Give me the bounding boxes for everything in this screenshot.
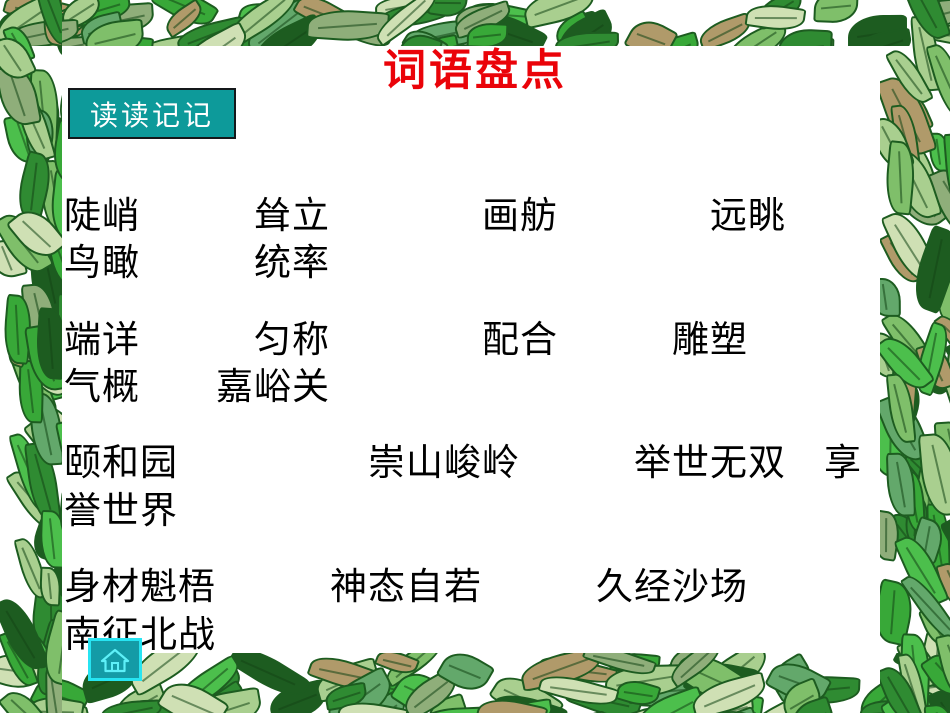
leaf-shape: [926, 684, 950, 713]
leaf-shape: [9, 623, 54, 676]
leaf-shape: [4, 320, 37, 368]
leaf-shape: [889, 323, 950, 402]
slide-canvas: 词语盘点 读读记记 陡峭 耸立 画舫 远眺 鸟瞰 统率 端详 匀称 配合 雕塑 …: [0, 0, 950, 713]
home-button[interactable]: [88, 638, 142, 681]
leaf-shape: [24, 441, 62, 524]
leaf-shape: [0, 236, 28, 282]
leaf-shape: [917, 603, 950, 651]
leaf-shape: [915, 340, 950, 394]
leaf-shape: [397, 667, 463, 713]
leaf-shape: [454, 2, 498, 30]
leaf-shape: [2, 0, 85, 32]
leaf-shape: [23, 409, 62, 470]
leaf-shape: [592, 706, 646, 713]
leaf-shape: [412, 706, 488, 713]
leaf-shape: [24, 322, 62, 394]
leaf-shape: [291, 0, 348, 36]
leaf-shape: [20, 365, 47, 419]
leaf-shape: [537, 653, 618, 689]
leaf-shape: [897, 651, 929, 713]
leaf-shape: [734, 694, 812, 713]
leaf-shape: [25, 9, 87, 43]
leaf-shape: [160, 0, 207, 39]
leaf-shape: [900, 569, 950, 646]
leaf-shape: [943, 703, 950, 713]
leaf-shape: [943, 332, 950, 391]
page-title: 词语盘点: [58, 50, 892, 93]
leaf-shape: [906, 680, 950, 713]
leaf-shape: [714, 702, 783, 713]
leaf-shape: [744, 1, 806, 34]
leaf-shape: [920, 646, 950, 704]
leaf-shape: [306, 7, 390, 44]
leaf-shape: [27, 69, 61, 151]
leaf-shape: [375, 0, 442, 18]
leaf-shape: [683, 656, 760, 702]
leaf-shape: [786, 695, 839, 713]
leaf-shape: [1, 55, 52, 129]
leaf-shape: [179, 687, 265, 713]
word-group-1: 陡峭 耸立 画舫 远眺 鸟瞰 统率: [64, 192, 892, 287]
leaf-shape: [587, 707, 657, 713]
leaf-shape: [925, 40, 950, 122]
leaf-shape: [880, 685, 950, 713]
leaf-shape: [672, 653, 755, 713]
leaf-shape: [910, 15, 941, 93]
leaf-shape: [165, 654, 246, 713]
leaf-shape: [8, 430, 53, 516]
leaf-shape: [21, 283, 58, 348]
leaf-shape: [55, 684, 62, 713]
leaf-shape: [0, 206, 54, 280]
leaf-shape: [940, 332, 950, 396]
leaf-shape: [935, 631, 950, 706]
leaf-shape: [18, 360, 44, 423]
leaf-shape: [899, 633, 932, 710]
leaf-shape: [156, 672, 231, 713]
leaf-shape: [890, 103, 922, 172]
leaf-band-left: [0, 0, 62, 713]
leaf-shape: [484, 698, 554, 713]
leaf-shape: [22, 107, 58, 161]
leaf-shape: [236, 0, 300, 39]
leaf-shape: [12, 150, 57, 222]
leaf-shape: [123, 692, 171, 713]
leaf-shape: [27, 95, 62, 155]
leaf-shape: [491, 688, 569, 713]
word-group-2: 端详 匀称 配合 雕塑 气概 嘉峪关: [64, 316, 892, 411]
leaf-shape: [28, 669, 92, 713]
leaf-shape: [389, 665, 445, 713]
leaf-shape: [925, 455, 950, 508]
leaf-shape: [423, 693, 473, 713]
leaf-shape: [101, 699, 163, 713]
leaf-shape: [940, 697, 950, 713]
leaf-shape: [665, 653, 726, 688]
leaf-shape: [0, 30, 37, 85]
leaf-shape: [521, 0, 598, 28]
leaf-shape: [853, 677, 906, 713]
leaf-band-bottom: [0, 653, 950, 713]
leaf-shape: [180, 663, 246, 713]
leaf-shape: [903, 653, 950, 709]
leaf-shape: [28, 517, 62, 562]
leaf-shape: [917, 672, 950, 699]
leaf-shape: [0, 653, 46, 695]
leaf-shape: [13, 535, 49, 601]
word-group-list: 陡峭 耸立 画舫 远眺 鸟瞰 统率 端详 匀称 配合 雕塑 气概 嘉峪关 颐和园…: [64, 192, 892, 658]
leaf-shape: [319, 665, 399, 713]
leaf-shape: [150, 0, 220, 34]
leaf-shape: [929, 133, 949, 172]
leaf-shape: [56, 0, 105, 31]
leaf-shape: [927, 503, 950, 581]
leaf-shape: [930, 236, 950, 323]
leaf-shape: [764, 653, 832, 711]
leaf-shape: [900, 136, 940, 202]
leaf-shape: [537, 669, 620, 713]
leaf-shape: [632, 671, 710, 711]
leaf-shape: [16, 332, 62, 403]
leaf-shape: [44, 705, 94, 713]
leaf-shape: [64, 0, 133, 29]
leaf-shape: [25, 692, 85, 713]
leaf-shape: [13, 87, 56, 163]
leaf-shape: [42, 0, 62, 40]
leaf-shape: [859, 698, 915, 713]
leaf-shape: [901, 495, 932, 546]
leaf-shape: [92, 2, 154, 36]
leaf-shape: [351, 689, 413, 713]
leaf-shape: [715, 694, 756, 713]
leaf-shape: [0, 627, 39, 690]
section-chip-read-and-remember: 读读记记: [68, 88, 236, 139]
word-group-3: 颐和园 崇山峻岭 举世无双 享誉世界: [64, 439, 892, 534]
leaf-shape: [892, 320, 932, 381]
leaf-shape: [3, 112, 44, 166]
leaf-shape: [564, 675, 642, 713]
leaf-shape: [910, 321, 950, 397]
leaf-shape: [906, 225, 950, 314]
leaf-shape: [866, 681, 939, 713]
leaf-shape: [752, 0, 807, 31]
leaf-shape: [630, 685, 710, 713]
section-chip-label: 读读记记: [90, 94, 214, 134]
leaf-shape: [813, 0, 858, 24]
word-group-4: 身材魁梧 神态自若 久经沙场 南征北战: [64, 563, 892, 658]
leaf-shape: [935, 278, 950, 361]
leaf-shape: [109, 700, 173, 713]
leaf-shape: [2, 294, 35, 365]
leaf-shape: [5, 464, 62, 539]
leaf-shape: [915, 0, 950, 31]
leaf-shape: [777, 676, 828, 713]
leaf-shape: [717, 691, 763, 713]
leaf-shape: [226, 653, 310, 706]
leaf-shape: [712, 706, 765, 713]
leaf-shape: [889, 355, 919, 418]
leaf-shape: [934, 420, 950, 464]
leaf-shape: [917, 431, 950, 517]
leaf-shape: [451, 0, 514, 40]
leaf-shape: [427, 0, 469, 20]
leaf-shape: [488, 666, 565, 713]
leaf-shape: [0, 0, 66, 46]
leaf-shape: [880, 661, 924, 713]
leaf-shape: [690, 653, 775, 710]
leaf-shape: [689, 671, 771, 713]
slide-content: 词语盘点 读读记记 陡峭 耸立 画舫 远眺 鸟瞰 统率 端详 匀称 配合 雕塑 …: [58, 40, 892, 652]
leaf-shape: [6, 201, 62, 266]
leaf-shape: [614, 676, 661, 711]
leaf-shape: [932, 19, 950, 46]
home-icon: [100, 647, 130, 673]
leaf-shape: [921, 443, 947, 497]
leaf-shape: [908, 466, 950, 543]
leaf-shape: [885, 45, 935, 109]
leaf-shape: [467, 0, 538, 32]
leaf-shape: [0, 4, 65, 46]
leaf-shape: [323, 682, 368, 711]
leaf-shape: [943, 133, 950, 214]
leaf-shape: [892, 653, 946, 684]
leaf-shape: [924, 703, 950, 713]
leaf-shape: [336, 697, 408, 713]
leaf-shape: [908, 516, 948, 565]
leaf-shape: [903, 470, 926, 531]
leaf-shape: [518, 653, 604, 692]
leaf-shape: [110, 681, 171, 713]
leaf-shape: [943, 375, 950, 432]
leaf-shape: [61, 696, 62, 713]
leaf-shape: [936, 559, 950, 611]
leaf-shape: [312, 657, 382, 704]
leaf-shape: [2, 22, 36, 65]
leaf-shape: [896, 0, 950, 45]
leaf-shape: [621, 654, 706, 705]
leaf-shape: [944, 454, 950, 506]
leaf-shape: [474, 693, 548, 713]
leaf-shape: [436, 653, 496, 698]
leaf-shape: [923, 695, 950, 713]
leaf-shape: [899, 441, 950, 514]
leaf-shape: [765, 653, 818, 703]
leaf-shape: [0, 63, 43, 130]
leaf-shape: [888, 84, 935, 139]
leaf-shape: [942, 253, 950, 315]
leaf-shape: [605, 665, 687, 698]
leaf-shape: [306, 653, 380, 697]
leaf-shape: [266, 678, 330, 713]
leaf-shape: [187, 679, 249, 713]
leaf-shape: [381, 653, 447, 688]
leaf-shape: [893, 530, 950, 610]
leaf-shape: [933, 309, 950, 378]
leaf-shape: [938, 699, 950, 713]
leaf-shape: [744, 710, 830, 713]
leaf-shape: [376, 0, 458, 30]
leaf-shape: [916, 630, 950, 689]
leaf-shape: [939, 511, 950, 578]
leaf-shape: [5, 336, 57, 418]
leaf-shape: [45, 668, 62, 713]
leaf-shape: [329, 656, 413, 710]
leaf-shape: [921, 449, 950, 526]
leaf-shape: [0, 684, 49, 713]
leaf-shape: [0, 593, 50, 675]
leaf-shape: [29, 392, 62, 467]
leaf-shape: [787, 674, 860, 705]
leaf-shape: [895, 634, 943, 693]
